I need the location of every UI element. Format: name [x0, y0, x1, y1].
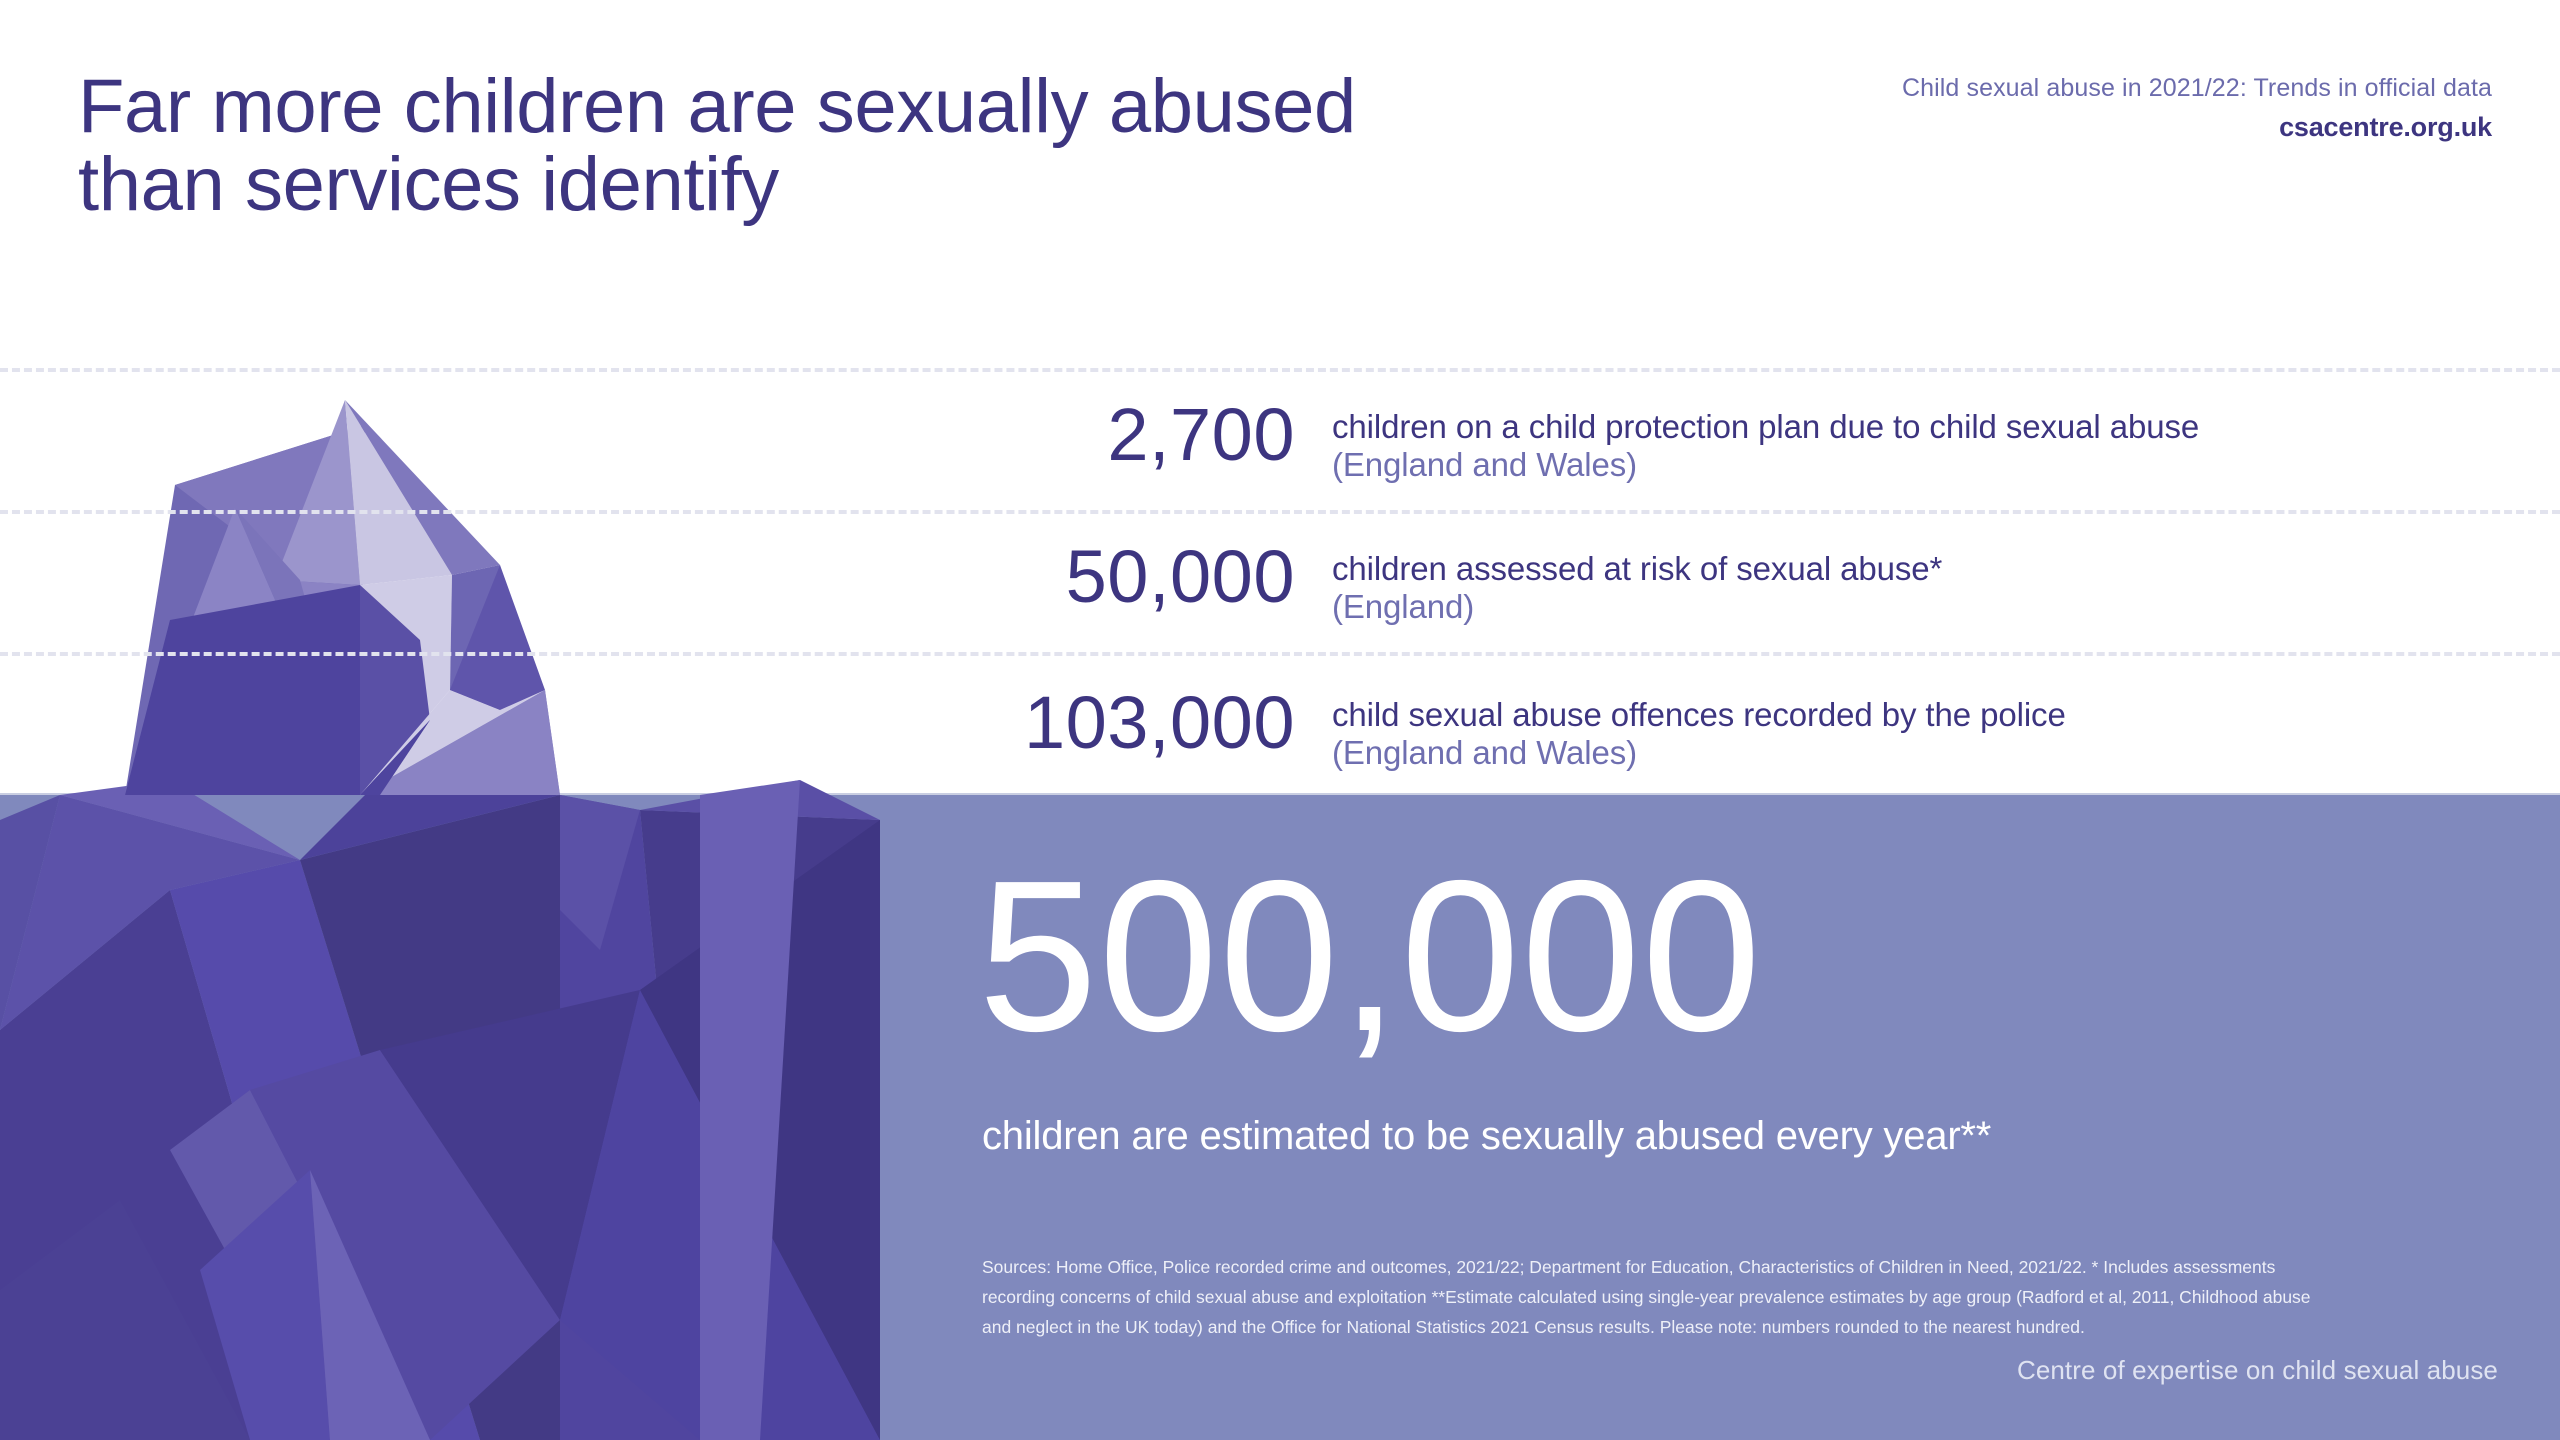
infographic-canvas: Far more children are sexually abused th… [0, 0, 2560, 1440]
stat-number: 103,000 [0, 688, 1295, 758]
stat-text: child sexual abuse offences recorded by … [1332, 688, 2066, 771]
hero-caption: children are estimated to be sexually ab… [982, 1114, 1991, 1159]
stat-label: children assessed at risk of sexual abus… [1332, 550, 1942, 588]
stat-row: 2,700 children on a child protection pla… [0, 400, 2560, 520]
stat-row: 50,000 children assessed at risk of sexu… [0, 542, 2560, 662]
hero-number: 500,000 [978, 848, 1762, 1063]
brand-url: csacentre.org.uk [2279, 112, 2492, 143]
stat-sublabel: (England and Wales) [1332, 446, 2199, 484]
stat-sublabel: (England and Wales) [1332, 734, 2066, 772]
iceberg-underwater [0, 780, 880, 1440]
sources-note: Sources: Home Office, Police recorded cr… [982, 1252, 2312, 1342]
stat-number: 50,000 [0, 542, 1295, 612]
report-kicker: Child sexual abuse in 2021/22: Trends in… [1902, 74, 2492, 103]
stat-sublabel: (England) [1332, 588, 1942, 626]
stat-text: children assessed at risk of sexual abus… [1332, 542, 1942, 625]
stat-row: 103,000 child sexual abuse offences reco… [0, 688, 2560, 808]
stat-text: children on a child protection plan due … [1332, 400, 2199, 483]
stat-label: children on a child protection plan due … [1332, 408, 2199, 446]
stat-number: 2,700 [0, 400, 1295, 470]
stat-label: child sexual abuse offences recorded by … [1332, 696, 2066, 734]
organisation-tagline: Centre of expertise on child sexual abus… [2017, 1355, 2498, 1386]
page-title: Far more children are sexually abused th… [78, 68, 1718, 225]
divider-rule-1 [0, 368, 2560, 372]
